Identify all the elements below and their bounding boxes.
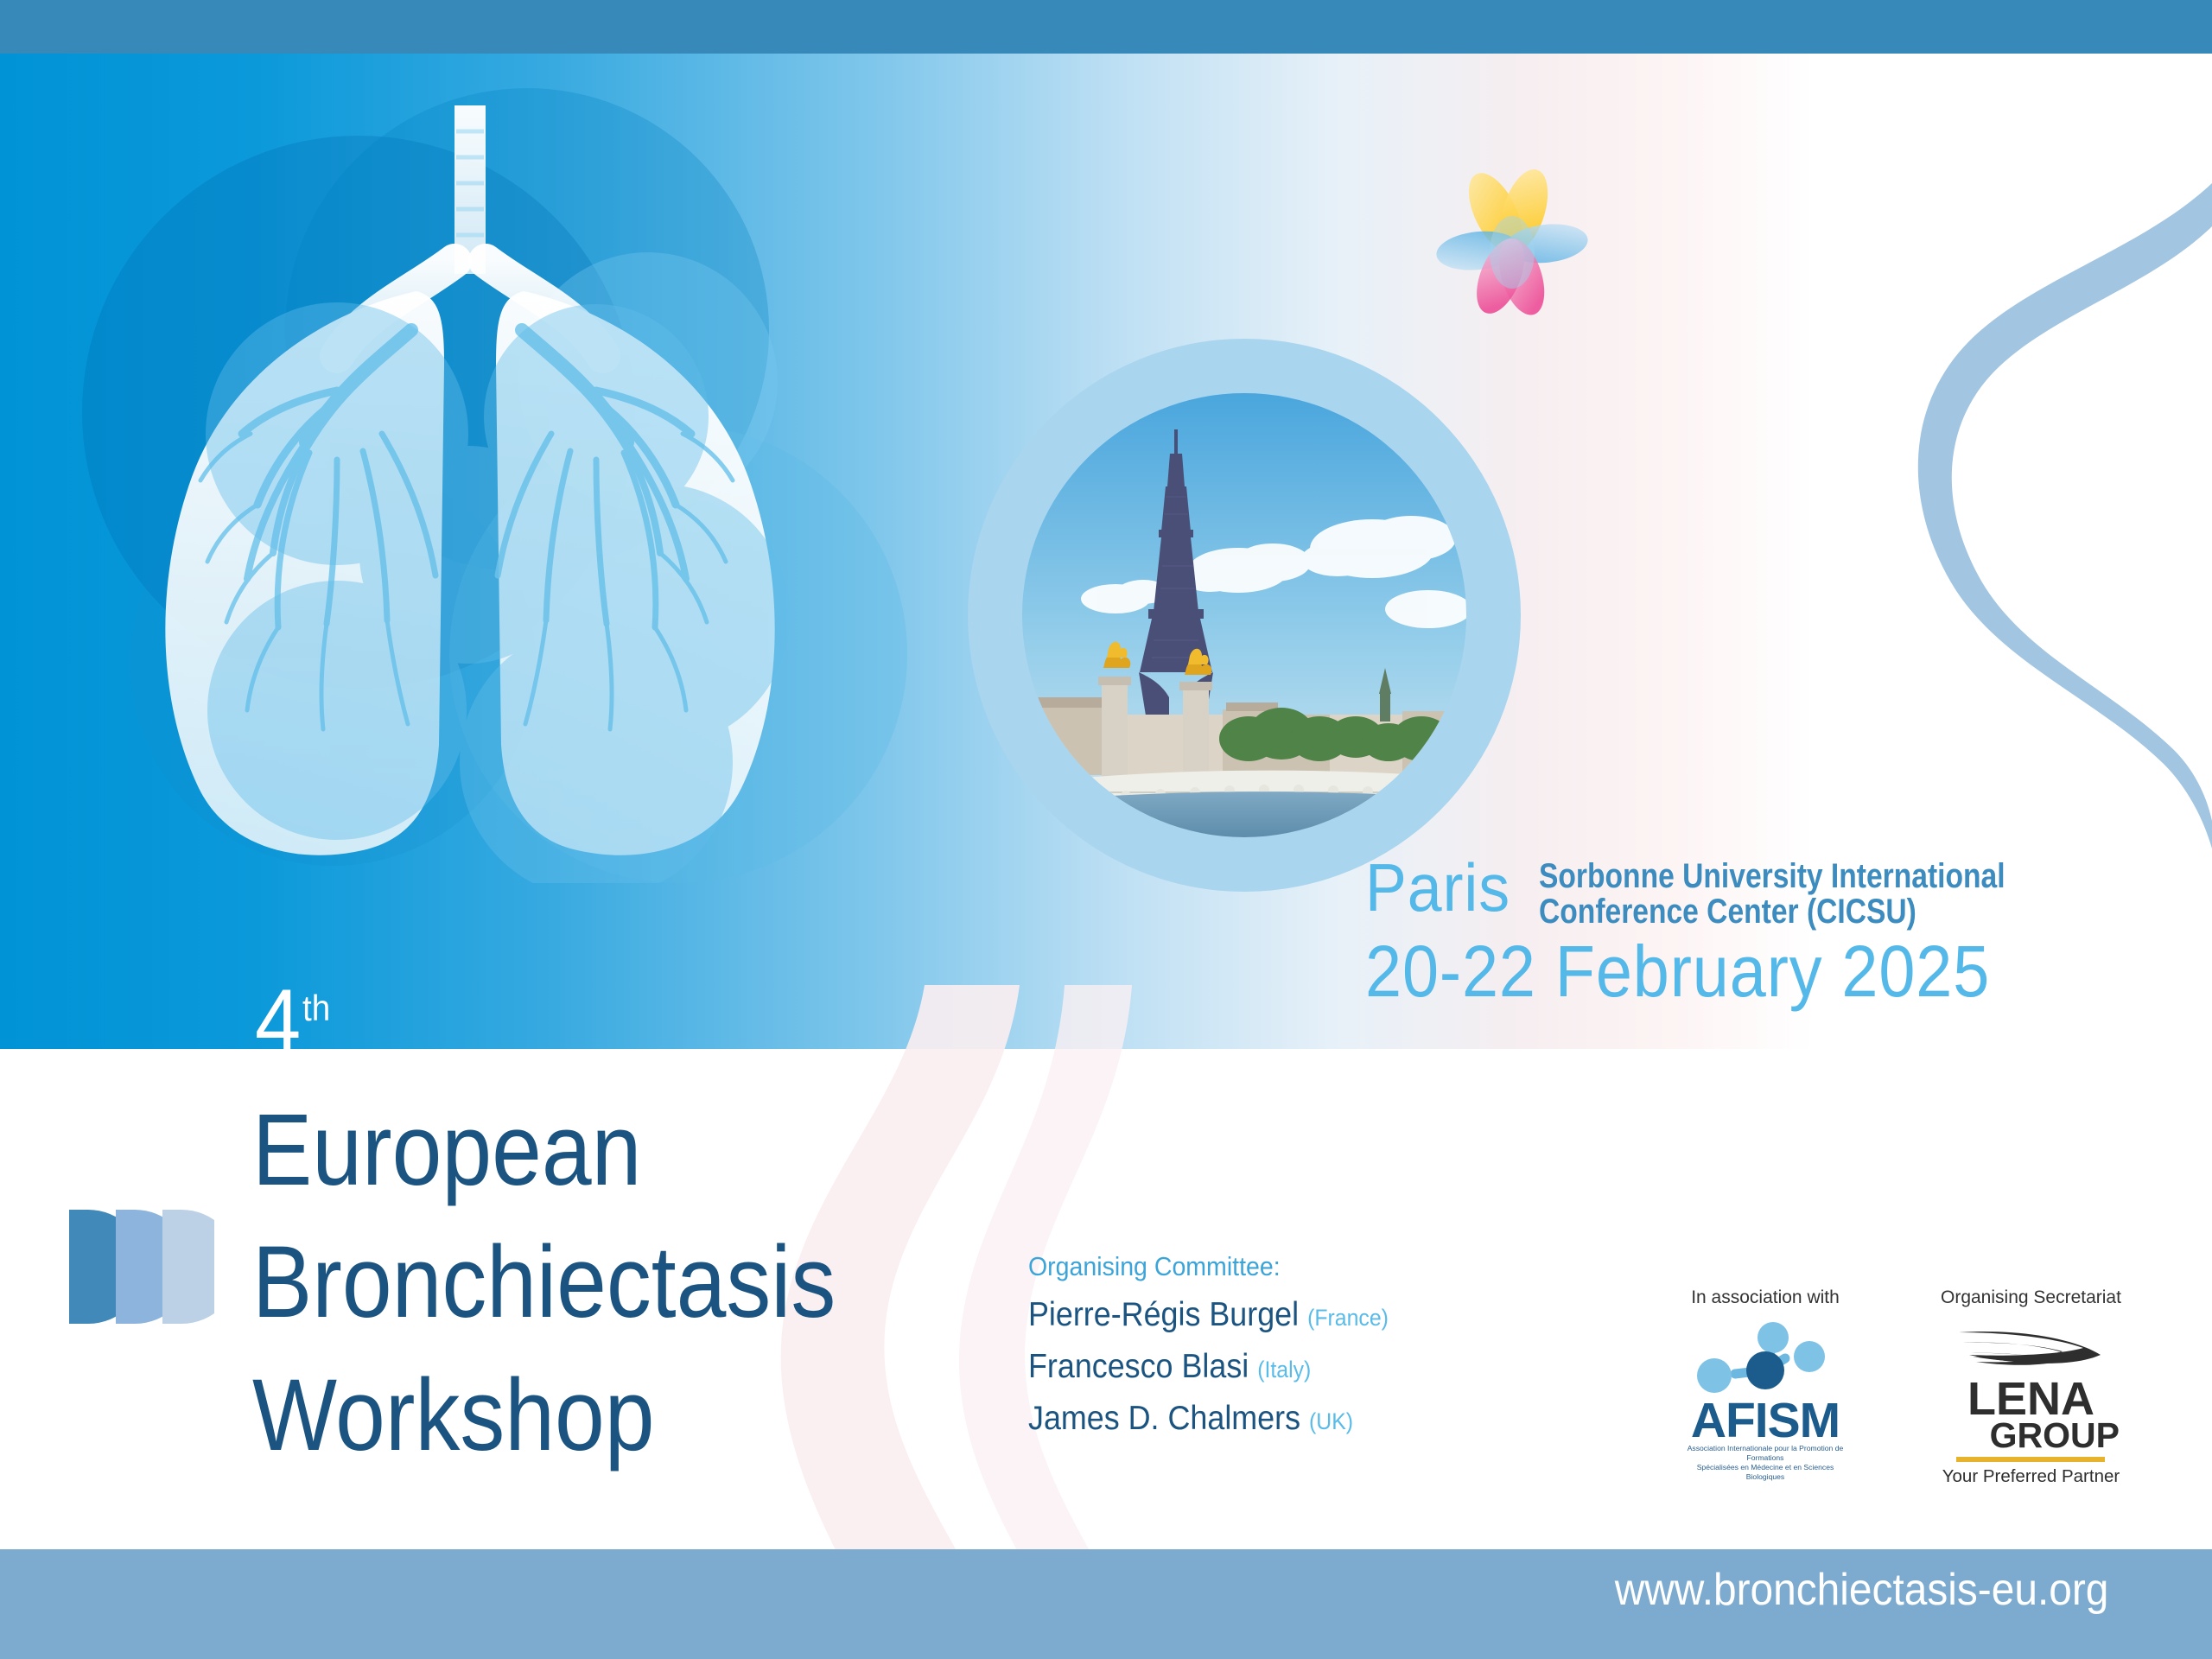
member-country: (France) (1307, 1305, 1389, 1331)
title-line-3: Workshop (252, 1350, 1127, 1482)
lena-swoosh-icon (1957, 1320, 2104, 1377)
member-country: (Italy) (1257, 1357, 1311, 1382)
association-logo-block: In association with AFISM Association In… (1681, 1287, 1850, 1487)
paris-eiffel-tower-photo (1022, 393, 1466, 837)
committee-member: James D. Chalmers (UK) (1028, 1400, 1473, 1438)
title-line-1: European (252, 1084, 1127, 1217)
organising-committee: Organising Committee: Pierre-Régis Burge… (1028, 1251, 1512, 1452)
ddd-chevron-logo-icon (67, 1208, 214, 1329)
lungs-illustration-icon (78, 105, 855, 883)
member-name: Pierre-Régis Burgel (1028, 1296, 1299, 1333)
title-line-2: Bronchiectasis (252, 1217, 1127, 1349)
afism-tagline: Association Internationale pour la Promo… (1681, 1444, 1850, 1482)
partner-logos: In association with AFISM Association In… (1681, 1287, 2164, 1487)
venue-line-1: Sorbonne University International (1539, 859, 2005, 894)
event-dates: 20-22 February 2025 (1365, 935, 2104, 1007)
committee-member: Francesco Blasi (Italy) (1028, 1348, 1473, 1386)
afism-tagline-line-2: Spécialisées en Médecine et en Sciences … (1681, 1463, 1850, 1482)
secretariat-logo-block: Organising Secretariat LENA GROUP Your P… (1941, 1287, 2121, 1487)
website-url[interactable]: www.bronchiectasis-eu.org (1614, 1564, 2108, 1616)
afism-tagline-line-1: Association Internationale pour la Promo… (1681, 1444, 1850, 1463)
committee-heading: Organising Committee: (1028, 1251, 1473, 1282)
venue-name: Sorbonne University International Confer… (1539, 855, 2005, 930)
edition-suffix: th (302, 988, 330, 1028)
venue-line-2: Conference Center (CICSU) (1539, 894, 2005, 930)
poster-root: 4th European Bronchiectasis Workshop Par… (0, 0, 2212, 1659)
lena-wordmark: LENA (1967, 1379, 2094, 1419)
location-block: Paris Sorbonne University International … (1365, 855, 2186, 1007)
lena-group-word: GROUP (1990, 1419, 2120, 1452)
page-title: European Bronchiectasis Workshop (252, 1084, 1127, 1482)
city-name: Paris (1365, 855, 1510, 920)
lena-tagline: Your Preferred Partner (1942, 1466, 2120, 1487)
secretariat-caption: Organising Secretariat (1941, 1287, 2121, 1308)
committee-member: Pierre-Régis Burgel (France) (1028, 1296, 1473, 1334)
afism-wordmark: AFISM (1691, 1400, 1840, 1441)
member-country: (UK) (1309, 1408, 1353, 1434)
member-name: Francesco Blasi (1028, 1348, 1249, 1385)
member-name: James D. Chalmers (1028, 1400, 1300, 1437)
flower-logo-icon (1417, 157, 1607, 321)
edition-number: 4 (255, 971, 301, 1049)
lena-accent-bar (1956, 1457, 2105, 1462)
edition-ordinal: 4th (255, 976, 330, 1049)
association-caption: In association with (1691, 1287, 1840, 1308)
top-accent-bar (0, 0, 2212, 54)
afism-molecule-icon (1683, 1320, 1847, 1403)
